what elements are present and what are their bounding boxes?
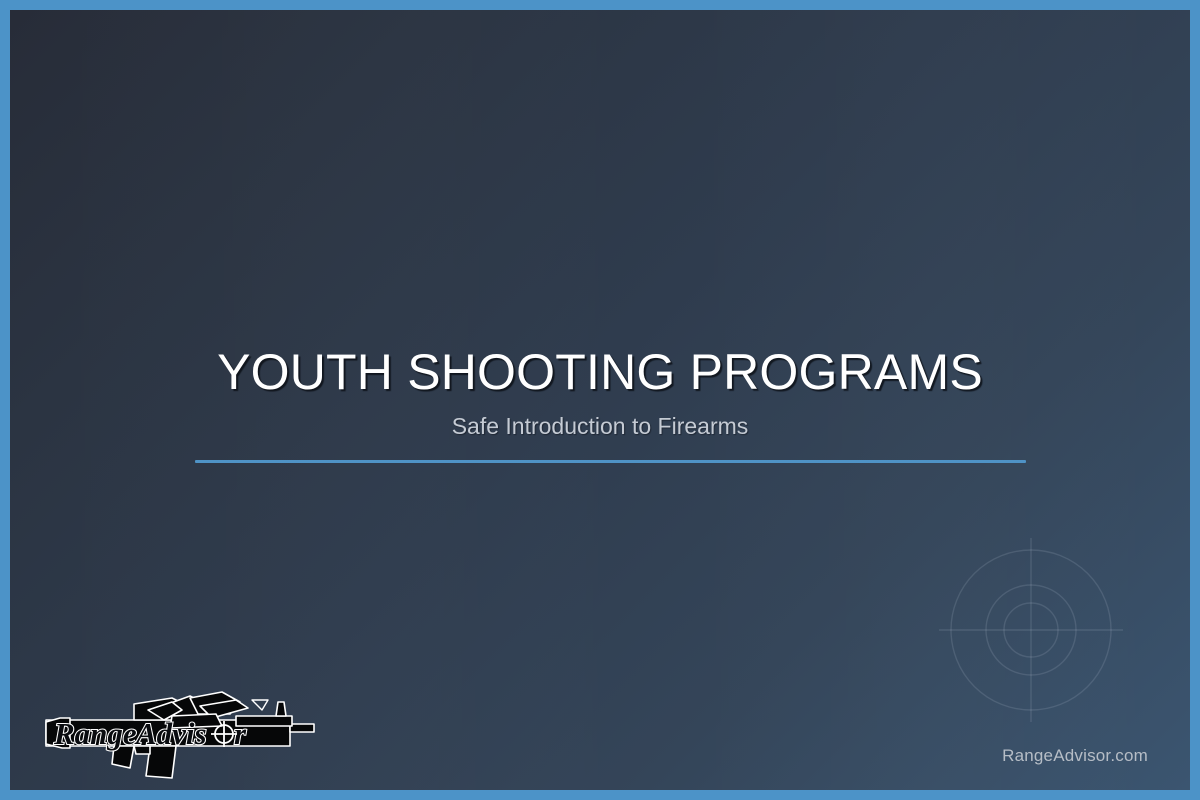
presentation-slide: YOUTH SHOOTING PROGRAMS Safe Introductio… bbox=[0, 0, 1200, 800]
brand-logo[interactable]: Range Advis r bbox=[40, 676, 320, 780]
title-block: YOUTH SHOOTING PROGRAMS Safe Introductio… bbox=[10, 346, 1190, 440]
page-title: YOUTH SHOOTING PROGRAMS bbox=[10, 346, 1190, 399]
footer-website-url: RangeAdvisor.com bbox=[1002, 746, 1148, 766]
brand-wordmark-advis: Advis bbox=[134, 716, 207, 751]
brand-wordmark-range: Range bbox=[53, 716, 137, 751]
accent-divider bbox=[195, 460, 1026, 463]
page-subtitle: Safe Introduction to Firearms bbox=[10, 413, 1190, 440]
